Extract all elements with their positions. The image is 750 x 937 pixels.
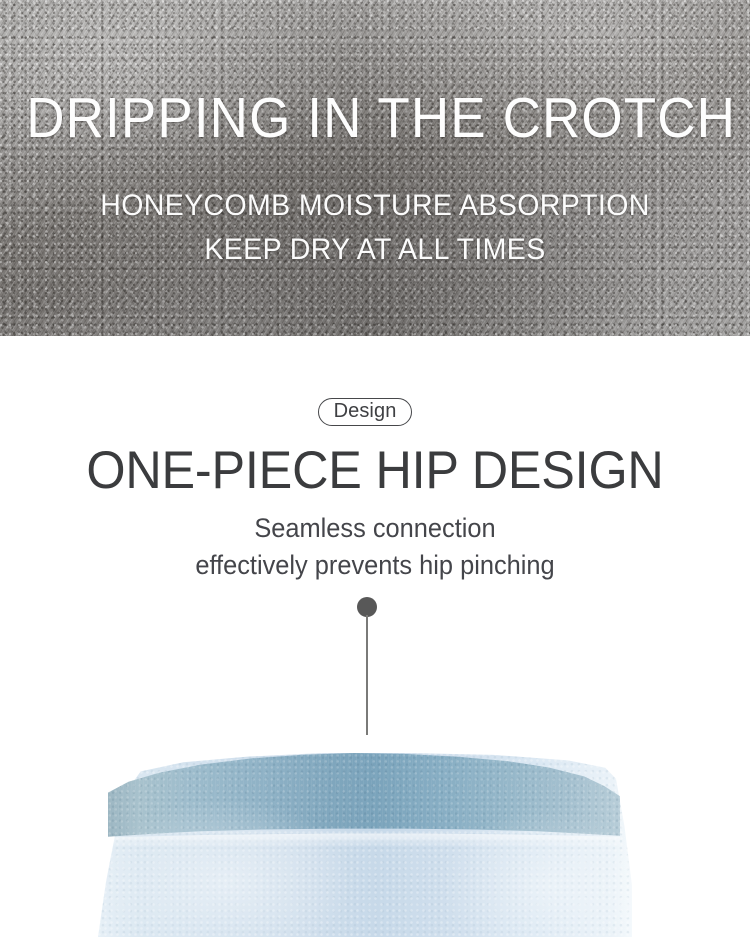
product-detail-page: DRIPPING IN THE CROTCH HONEYCOMB MOISTUR… bbox=[0, 0, 750, 937]
design-badge: Design bbox=[318, 398, 412, 426]
hero-subheadline-line-2: KEEP DRY AT ALL TIMES bbox=[19, 233, 732, 267]
hero-fabric-shading bbox=[0, 0, 750, 336]
callout-dot-icon bbox=[357, 597, 377, 617]
hero-banner: DRIPPING IN THE CROTCH HONEYCOMB MOISTUR… bbox=[0, 0, 750, 336]
design-description-line-2: effectively prevents hip pinching bbox=[23, 549, 728, 581]
design-badge-label: Design bbox=[334, 401, 397, 421]
design-description-line-1: Seamless connection bbox=[23, 512, 728, 544]
hero-subheadline-line-1: HONEYCOMB MOISTURE ABSORPTION bbox=[19, 189, 732, 223]
hero-headline: DRIPPING IN THE CROTCH bbox=[26, 88, 724, 148]
design-section-heading: ONE-PIECE HIP DESIGN bbox=[19, 443, 732, 499]
product-photo bbox=[0, 735, 750, 937]
